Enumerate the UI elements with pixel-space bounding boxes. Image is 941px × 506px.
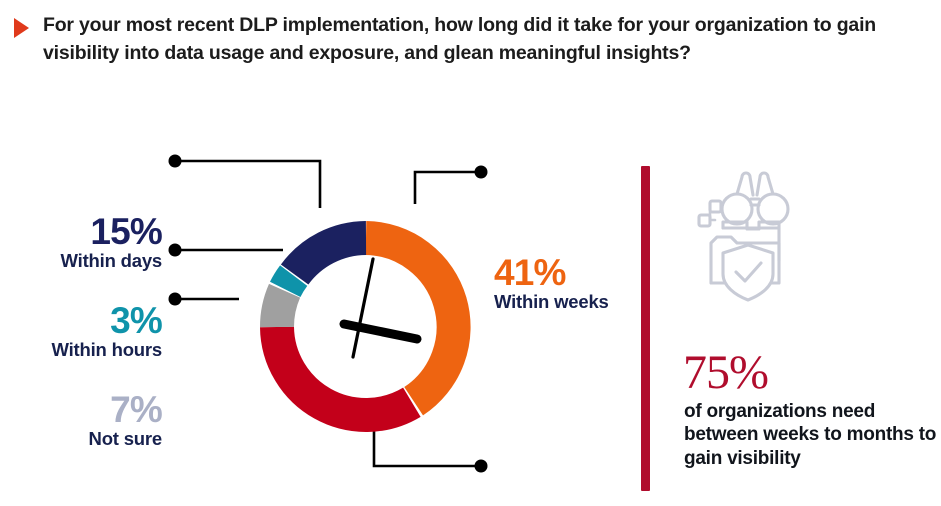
- callout-value-within-days: 15%: [10, 214, 162, 250]
- clock-minute-hand: [353, 259, 373, 357]
- callout-within-days: 15% Within days: [10, 214, 162, 271]
- stat-percentage: 75%: [683, 349, 768, 397]
- leader-line-weeks: [415, 172, 481, 204]
- callout-value-not-sure: 7%: [10, 392, 162, 428]
- callout-value-within-hours: 3%: [10, 303, 162, 339]
- triangle-right-icon: [14, 18, 29, 38]
- donut-segment-not-sure: [277, 291, 285, 327]
- stat-panel-accent-bar: [641, 166, 650, 491]
- callout-not-sure: 7% Not sure: [10, 392, 162, 449]
- leader-dot-hours: [169, 244, 182, 257]
- leader-dots-left: [169, 155, 182, 306]
- leader-lines-left: [175, 161, 320, 299]
- donut-segment-within-hours: [285, 276, 293, 290]
- callout-caption-within-hours: Within hours: [10, 339, 162, 360]
- clock-hands: [344, 259, 417, 357]
- clock-hour-hand: [344, 324, 417, 339]
- donut-segment-within-weeks: [366, 238, 454, 401]
- question-text: For your most recent DLP implementation,…: [43, 12, 883, 67]
- callout-within-hours: 3% Within hours: [10, 303, 162, 360]
- question-block: For your most recent DLP implementation,…: [14, 12, 914, 67]
- callout-caption-not-sure: Not sure: [10, 428, 162, 449]
- leader-dot-notsure: [169, 293, 182, 306]
- callout-value-within-months: 34%: [494, 502, 694, 506]
- callout-caption-within-days: Within days: [10, 250, 162, 271]
- infographic-page: For your most recent DLP implementation,…: [0, 0, 941, 506]
- donut-segment-within-days: [295, 238, 366, 275]
- leader-dot-months: [475, 460, 488, 473]
- leader-dot-weeks: [475, 166, 488, 179]
- leader-dots-right: [475, 166, 488, 473]
- donut-chart-area: 15% Within days 3% Within hours 7% Not s…: [0, 96, 640, 506]
- binoculars-shield-folder-icon: [693, 171, 813, 311]
- stat-description: of organizations need between weeks to m…: [684, 400, 940, 470]
- leader-dot-days: [169, 155, 182, 168]
- stat-panel: 75% of organizations need between weeks …: [641, 166, 941, 491]
- leader-line-days: [175, 161, 320, 208]
- callout-within-months: 34% Within months: [494, 502, 694, 506]
- donut-segment-within-months: [277, 327, 412, 415]
